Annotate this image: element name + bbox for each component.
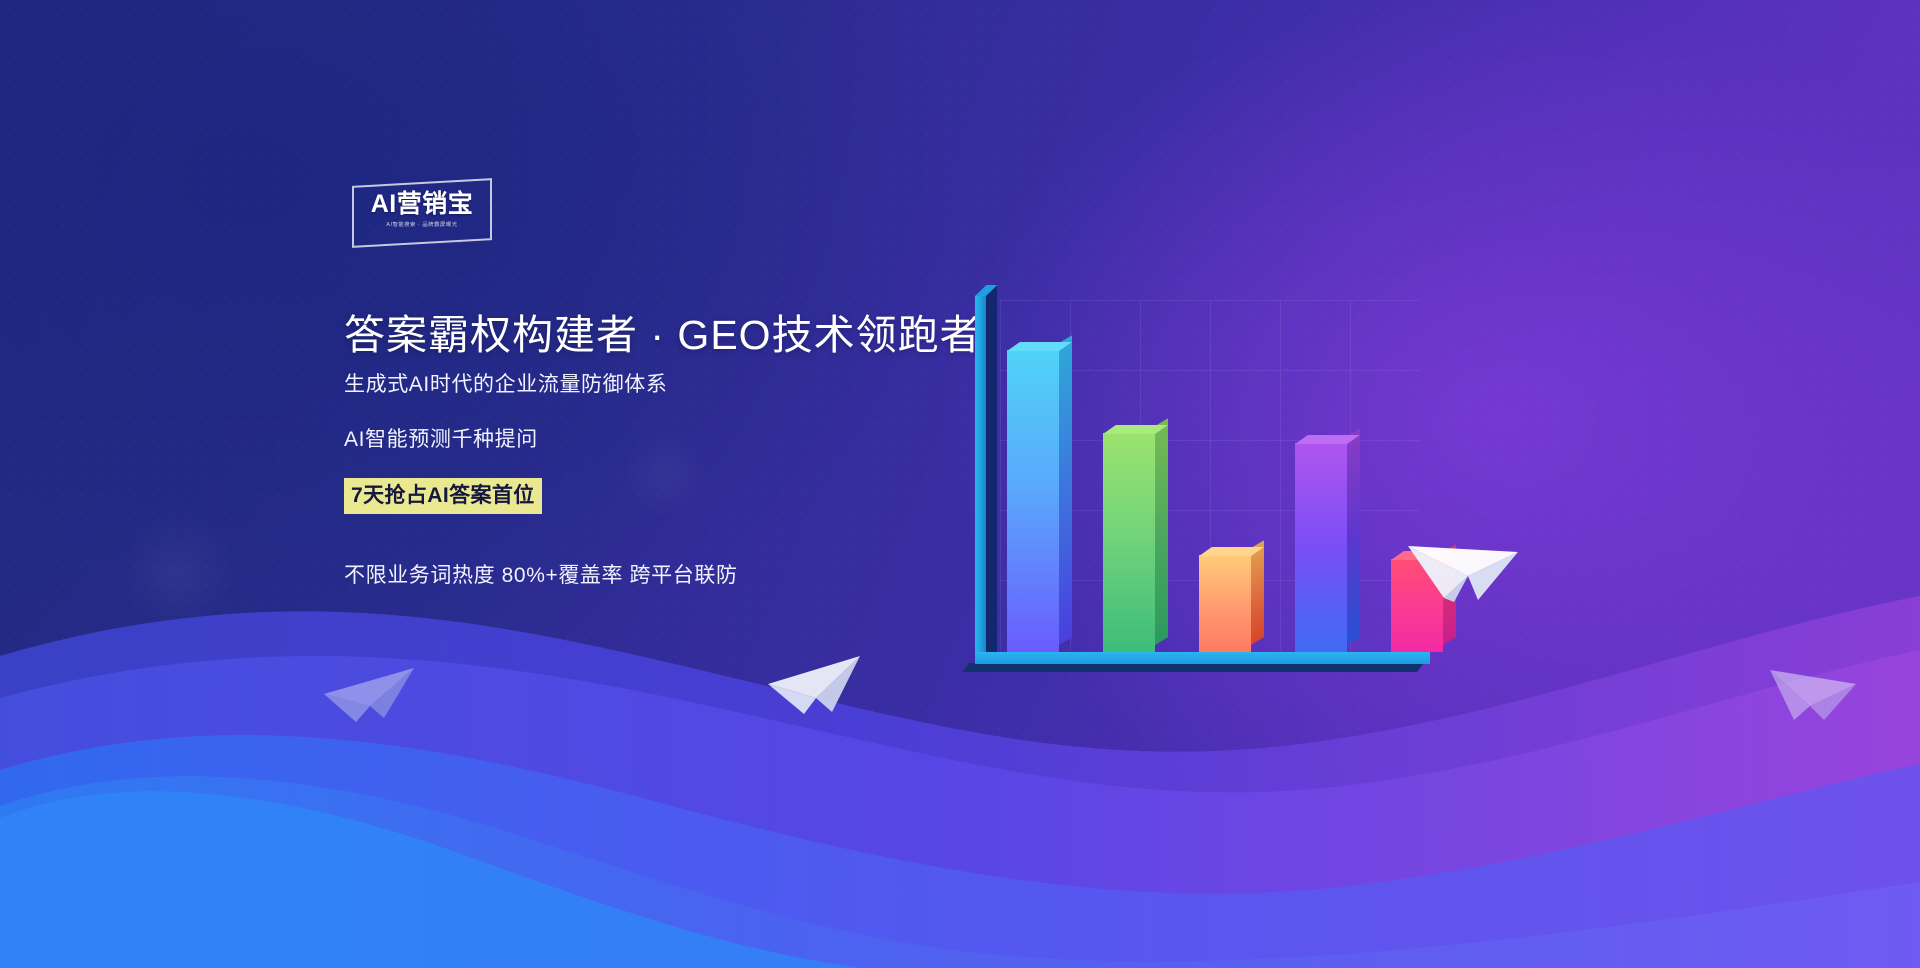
hero-subtitle-1: 生成式AI时代的企业流量防御体系 [344, 374, 667, 395]
brand-logo[interactable]: AI营销宝 AI智能搜索 · 品牌霸屏曝光 [352, 182, 492, 244]
decorative-circle-2 [620, 430, 710, 520]
logo-wordmark: AI营销宝 [360, 192, 484, 217]
hero-highlight-badge: 7天抢占AI答案首位 [344, 478, 542, 514]
background-waves [0, 538, 1920, 968]
hero-copy: 答案霸权构建者 · GEO技术领跑者 生成式AI时代的企业流量防御体系 AI智能… [344, 312, 1044, 359]
hero-banner: AI营销宝 AI智能搜索 · 品牌霸屏曝光 答案霸权构建者 · GEO技术领跑者… [0, 0, 1920, 968]
page-title: 答案霸权构建者 · GEO技术领跑者 [344, 312, 1044, 359]
hero-subtitle-2: AI智能预测千种提问 [344, 429, 538, 450]
logo-tagline: AI智能搜索 · 品牌霸屏曝光 [362, 223, 481, 228]
hero-highlight-wrapper: 7天抢占AI答案首位 [344, 478, 542, 514]
